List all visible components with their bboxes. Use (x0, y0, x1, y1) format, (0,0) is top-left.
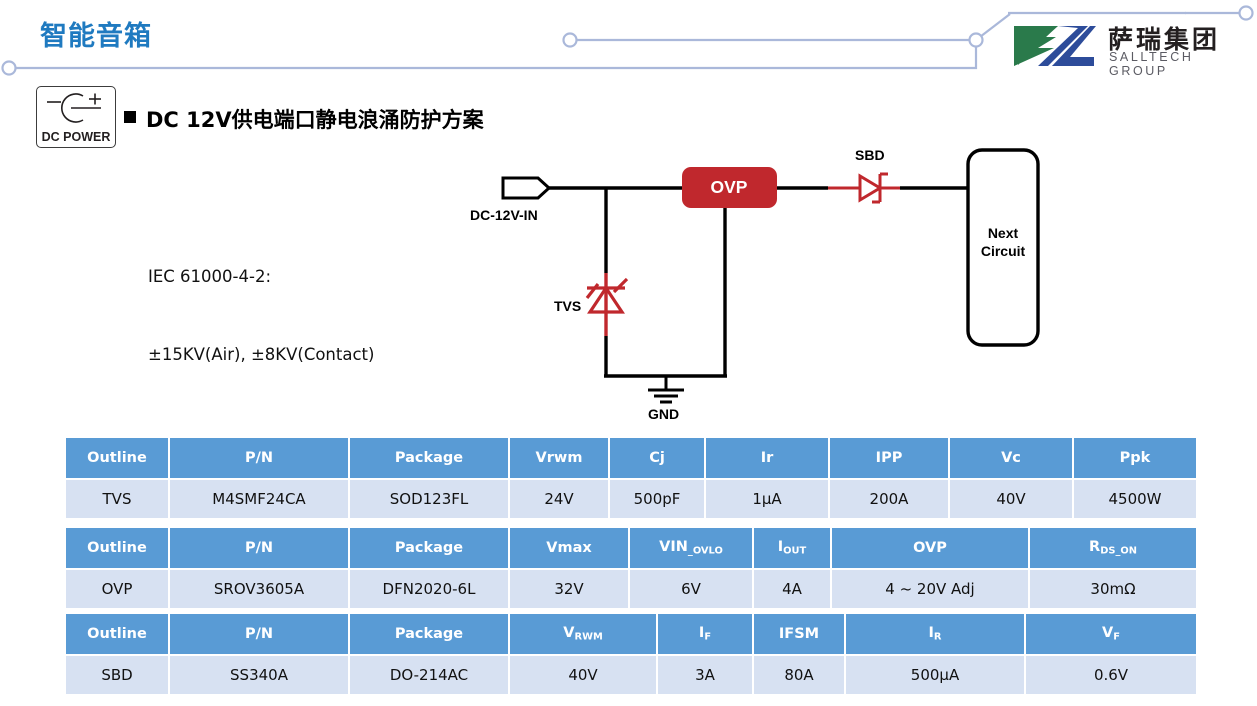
table-row: OVP SROV3605A DFN2020-6L 32V 6V 4A 4 ~ 2… (66, 570, 1196, 608)
circuit-gnd-label: GND (648, 406, 679, 422)
cell-iout: 4A (754, 570, 832, 608)
col-pn: P/N (170, 528, 350, 570)
col-package: Package (350, 438, 510, 480)
cell-outline: SBD (66, 656, 170, 694)
col-cj: Cj (610, 438, 706, 480)
col-rds-on: RDS_ON (1030, 528, 1196, 570)
cell-vmax: 32V (510, 570, 630, 608)
col-vin-ovlo: VIN_OVLO (630, 528, 754, 570)
cell-rds-on: 30mΩ (1030, 570, 1196, 608)
cell-package: DO-214AC (350, 656, 510, 694)
page-title: 智能音箱 (40, 14, 152, 53)
cell-cj: 500pF (610, 480, 706, 518)
next-circuit-line-2: Circuit (968, 242, 1038, 260)
cell-pn: M4SMF24CA (170, 480, 350, 518)
cell-vf: 0.6V (1026, 656, 1196, 694)
next-circuit-line-1: Next (968, 224, 1038, 242)
cell-outline: TVS (66, 480, 170, 518)
col-ipp: IPP (830, 438, 950, 480)
dc-power-badge: DC POWER (36, 86, 116, 148)
cell-vrwm: 24V (510, 480, 610, 518)
col-vrwm: VRWM (510, 614, 658, 656)
col-vrwm: Vrwm (510, 438, 610, 480)
circuit-diagram: OVP (450, 140, 1070, 430)
cell-ovp: 4 ~ 20V Adj (832, 570, 1030, 608)
section-title: DC 12V供电端口静电浪涌防护方案 (146, 104, 484, 134)
table-header-row: Outline P/N Package Vrwm Cj Ir IPP Vc Pp… (66, 438, 1196, 480)
col-ovp: OVP (832, 528, 1030, 570)
cell-if: 3A (658, 656, 754, 694)
cell-ipp: 200A (830, 480, 950, 518)
cell-package: SOD123FL (350, 480, 510, 518)
company-logo: 萨瑞集团 SALLTECH GROUP (1012, 22, 1242, 72)
col-ir: Ir (706, 438, 830, 480)
sbd-spec-table: Outline P/N Package VRWM IF IFSM IR VF S… (66, 614, 1196, 694)
col-outline: Outline (66, 438, 170, 480)
spec-line-1: IEC 61000-4-2: (148, 264, 379, 290)
dc-power-icon (43, 92, 109, 126)
col-package: Package (350, 614, 510, 656)
cell-vc: 40V (950, 480, 1074, 518)
cell-pn: SS340A (170, 656, 350, 694)
dc-power-label: DC POWER (37, 130, 115, 144)
section-bullet-icon (124, 111, 136, 123)
next-circuit-block-label: Next Circuit (968, 224, 1038, 260)
col-vf: VF (1026, 614, 1196, 656)
col-pn: P/N (170, 614, 350, 656)
col-ppk: Ppk (1074, 438, 1196, 480)
circuit-input-label: DC-12V-IN (470, 207, 538, 223)
salltech-logo-icon (1012, 24, 1098, 68)
col-pn: P/N (170, 438, 350, 480)
col-ir: IR (846, 614, 1026, 656)
table-header-row: Outline P/N Package VRWM IF IFSM IR VF (66, 614, 1196, 656)
col-outline: Outline (66, 528, 170, 570)
cell-outline: OVP (66, 570, 170, 608)
circuit-tvs-label: TVS (554, 298, 581, 314)
table-row: TVS M4SMF24CA SOD123FL 24V 500pF 1μA 200… (66, 480, 1196, 518)
table-row: SBD SS340A DO-214AC 40V 3A 80A 500μA 0.6… (66, 656, 1196, 694)
table-header-row: Outline P/N Package Vmax VIN_OVLO IOUT O… (66, 528, 1196, 570)
page-header: 智能音箱 萨瑞集团 SALLTECH GROUP (0, 0, 1257, 88)
cell-vrwm: 40V (510, 656, 658, 694)
tvs-spec-table: Outline P/N Package Vrwm Cj Ir IPP Vc Pp… (66, 438, 1196, 518)
cell-ir: 1μA (706, 480, 830, 518)
col-outline: Outline (66, 614, 170, 656)
spec-line-2: ±15KV(Air), ±8KV(Contact) (148, 342, 379, 368)
cell-ifsm: 80A (754, 656, 846, 694)
cell-vin-ovlo: 6V (630, 570, 754, 608)
cell-pn: SROV3605A (170, 570, 350, 608)
logo-name-en: SALLTECH GROUP (1109, 50, 1242, 78)
col-vmax: Vmax (510, 528, 630, 570)
col-if: IF (658, 614, 754, 656)
col-iout: IOUT (754, 528, 832, 570)
circuit-sbd-label: SBD (855, 147, 885, 163)
ovp-spec-table: Outline P/N Package Vmax VIN_OVLO IOUT O… (66, 528, 1196, 608)
ovp-block-label: OVP (711, 177, 748, 197)
cell-package: DFN2020-6L (350, 570, 510, 608)
col-ifsm: IFSM (754, 614, 846, 656)
col-package: Package (350, 528, 510, 570)
cell-ir: 500μA (846, 656, 1026, 694)
col-vc: Vc (950, 438, 1074, 480)
cell-ppk: 4500W (1074, 480, 1196, 518)
